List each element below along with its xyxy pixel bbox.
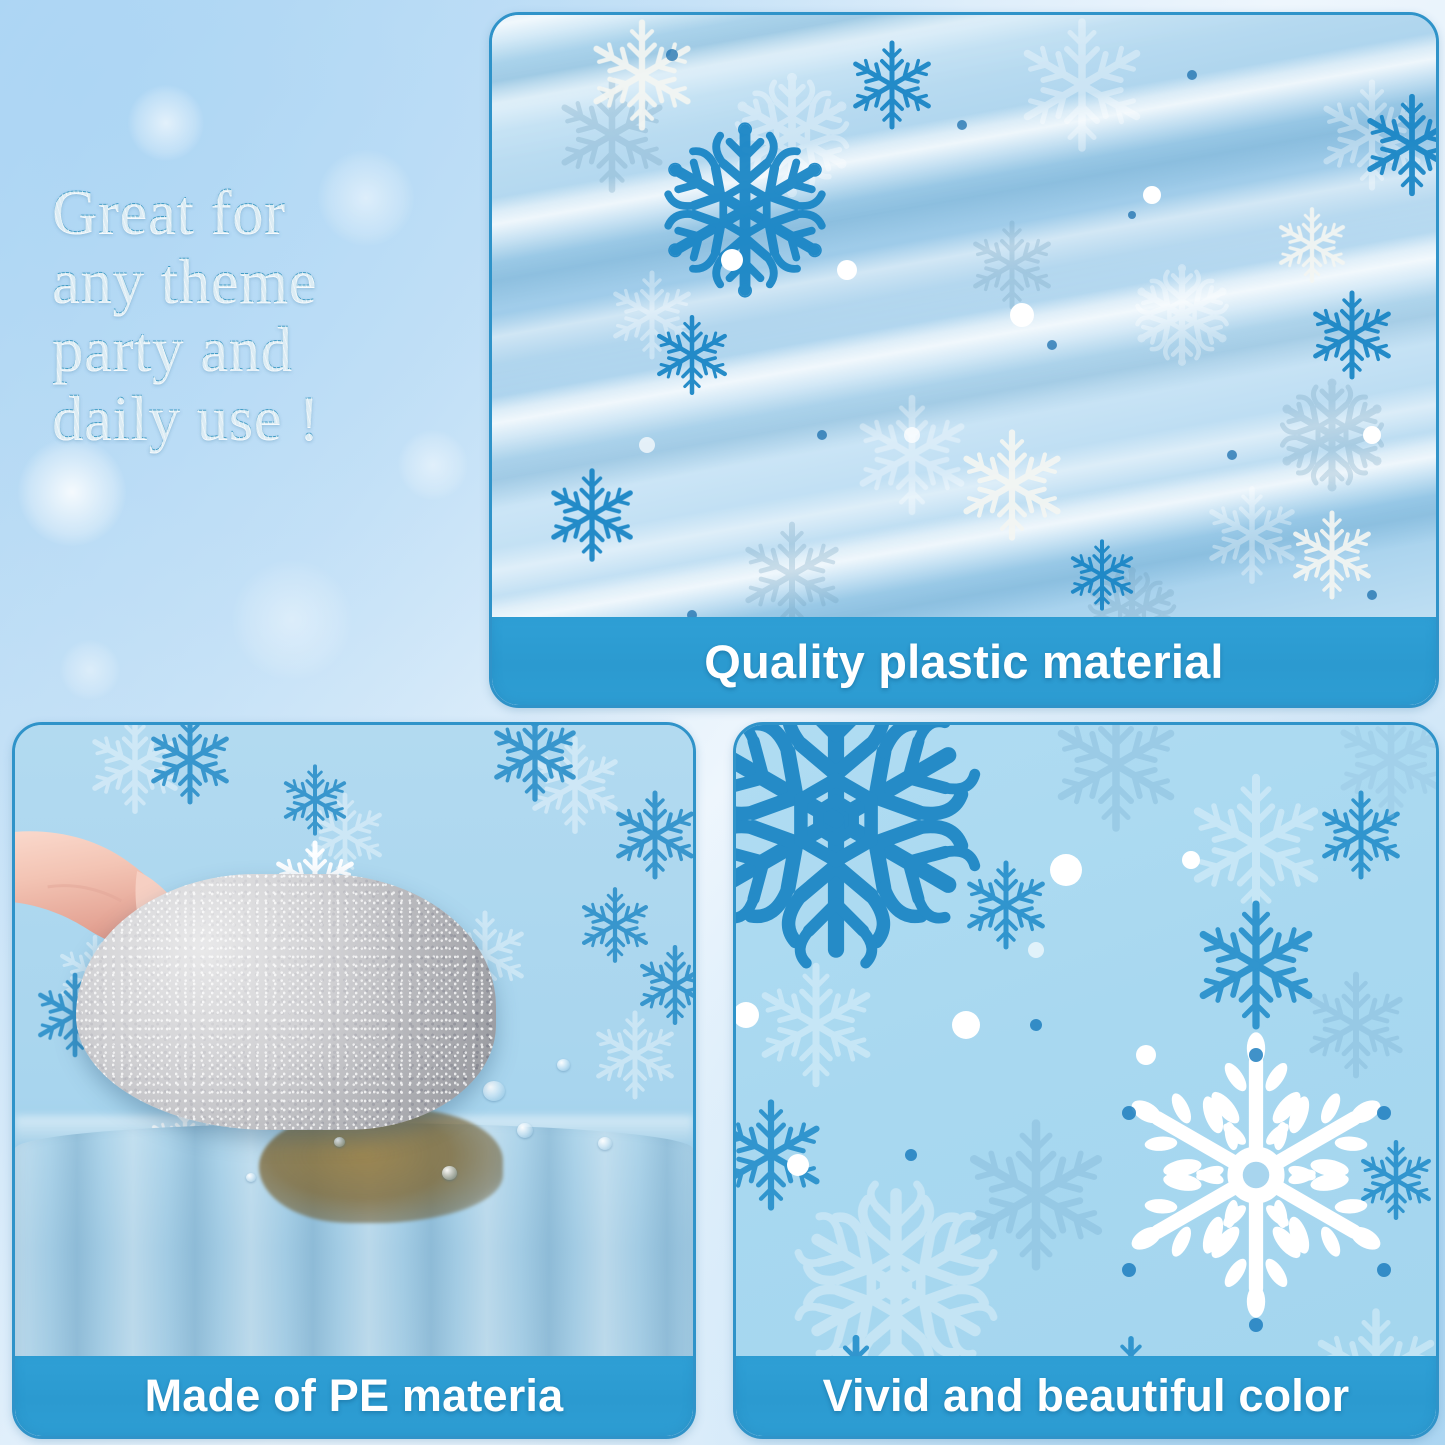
panel-caption: Made of PE materia [15, 1356, 693, 1436]
headline-line: daily use ! [52, 384, 452, 453]
print-closeup-photo [736, 725, 1436, 1436]
hero-snowflake [1108, 1032, 1405, 1318]
bokeh-circle [18, 438, 126, 546]
plastic-roll-photo [492, 15, 1436, 705]
panel-quality-plastic[interactable]: Quality plastic material [489, 12, 1439, 708]
bokeh-circle [128, 85, 204, 161]
bokeh-circle [232, 560, 352, 680]
water-droplet [517, 1123, 533, 1138]
panel-pe-material[interactable]: Made of PE materia [12, 722, 696, 1439]
bokeh-circle [60, 640, 120, 700]
page-title: Great for any theme party and daily use … [52, 178, 452, 453]
product-infographic: Great for any theme party and daily use … [0, 0, 1445, 1445]
panel-caption: Quality plastic material [492, 617, 1436, 705]
headline-line: party and [52, 315, 452, 384]
headline-line: Great for [52, 178, 452, 247]
headline-line: any theme [52, 247, 452, 316]
water-droplet [442, 1166, 457, 1180]
snowflake-layer [492, 15, 1436, 705]
water-droplet [246, 1173, 256, 1182]
wipe-demo-photo [15, 725, 693, 1436]
snowflake-layer [736, 725, 1436, 1436]
panel-vivid-color[interactable]: Vivid and beautiful color [733, 722, 1439, 1439]
panel-caption: Vivid and beautiful color [736, 1356, 1436, 1436]
wipe-cloth-icon [76, 874, 496, 1130]
